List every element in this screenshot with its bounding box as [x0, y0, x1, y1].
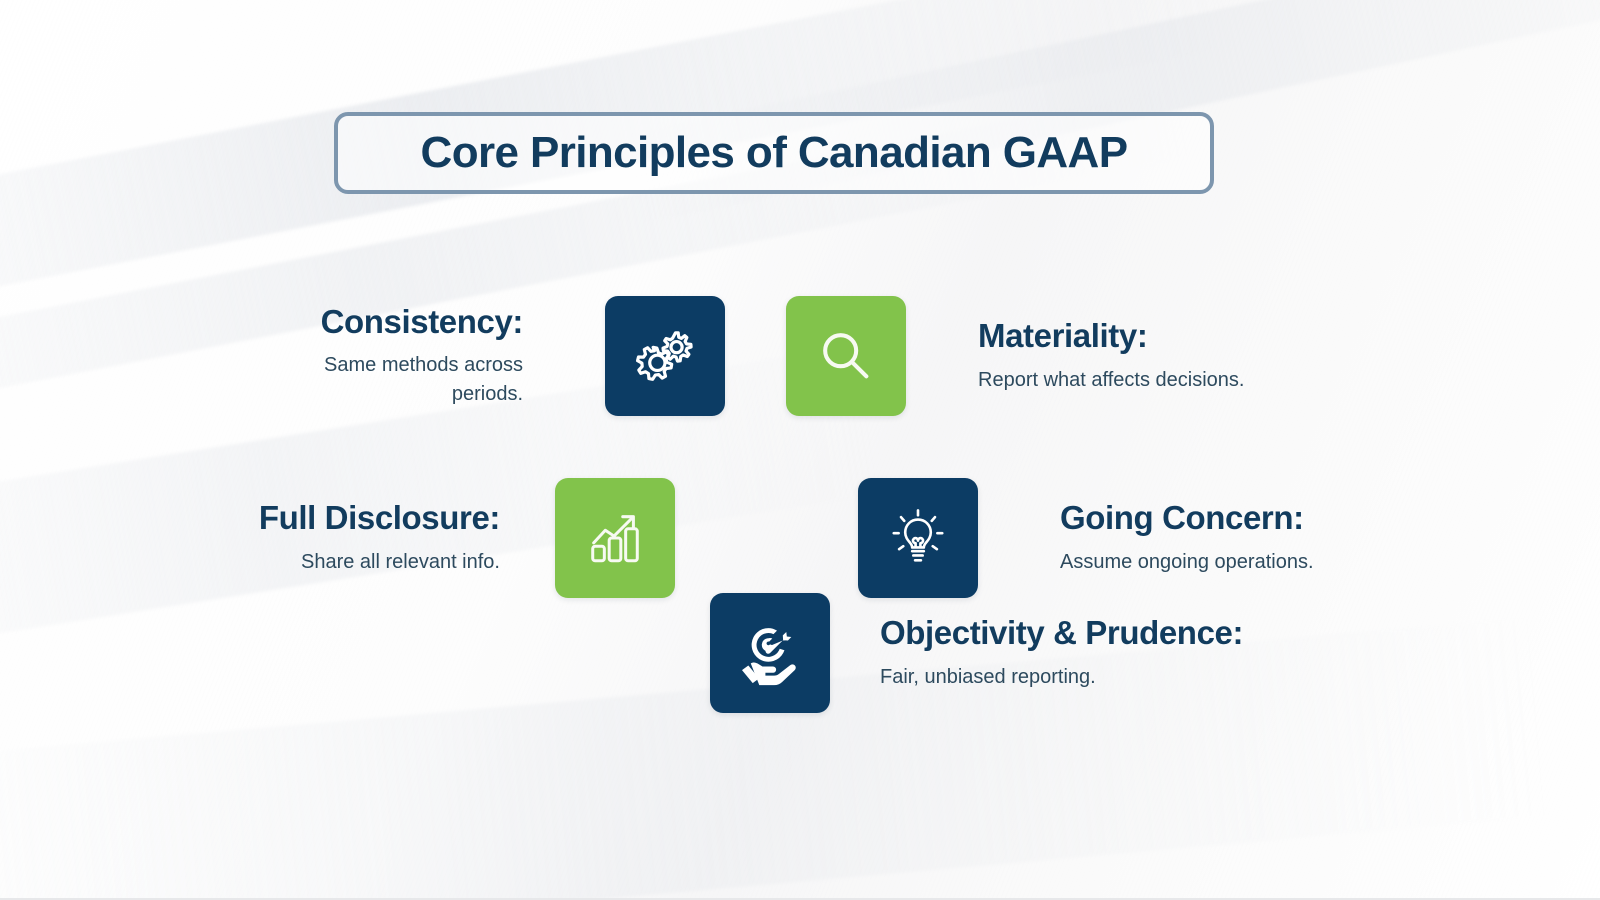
magnifier-icon [815, 325, 877, 387]
principle-text-block: Materiality: Report what affects decisio… [978, 317, 1244, 395]
page-title: Core Principles of Canadian GAAP [421, 128, 1128, 178]
principle-body: Report what affects decisions. [978, 366, 1244, 395]
principle-heading: Materiality: [978, 317, 1147, 355]
principle-text-block: Going Concern: Assume ongoing operations… [1060, 499, 1314, 577]
gears-icon [632, 323, 698, 389]
principle-going-concern: Going Concern: Assume ongoing operations… [858, 478, 1388, 598]
principle-body: Share all relevant info. [301, 548, 500, 577]
principle-body: Assume ongoing operations. [1060, 548, 1314, 577]
title-card: Core Principles of Canadian GAAP [334, 112, 1214, 194]
principle-materiality: Materiality: Report what affects decisio… [786, 296, 1316, 416]
hand-target-icon [735, 618, 805, 688]
principle-consistency: Consistency: Same methods across periods… [250, 296, 725, 416]
hand-target-icon-tile [710, 593, 830, 713]
principle-heading: Consistency: [321, 303, 523, 341]
principle-text-block: Consistency: Same methods across periods… [273, 303, 523, 410]
principle-body: Fair, unbiased reporting. [880, 663, 1096, 692]
principle-heading: Full Disclosure: [259, 499, 500, 537]
magnifier-icon-tile [786, 296, 906, 416]
lightbulb-icon [887, 507, 949, 569]
lightbulb-icon-tile [858, 478, 978, 598]
principle-body: Same methods across periods. [273, 351, 523, 409]
principle-full-disclosure: Full Disclosure: Share all relevant info… [200, 478, 675, 598]
gears-icon-tile [605, 296, 725, 416]
bar-chart-growth-icon [584, 507, 646, 569]
principle-text-block: Full Disclosure: Share all relevant info… [259, 499, 500, 577]
principle-heading: Going Concern: [1060, 499, 1304, 537]
principle-heading: Objectivity & Prudence: [880, 614, 1243, 652]
bar-chart-growth-icon-tile [555, 478, 675, 598]
principle-objectivity-prudence: Objectivity & Prudence: Fair, unbiased r… [710, 593, 1330, 713]
principle-text-block: Objectivity & Prudence: Fair, unbiased r… [880, 614, 1243, 692]
